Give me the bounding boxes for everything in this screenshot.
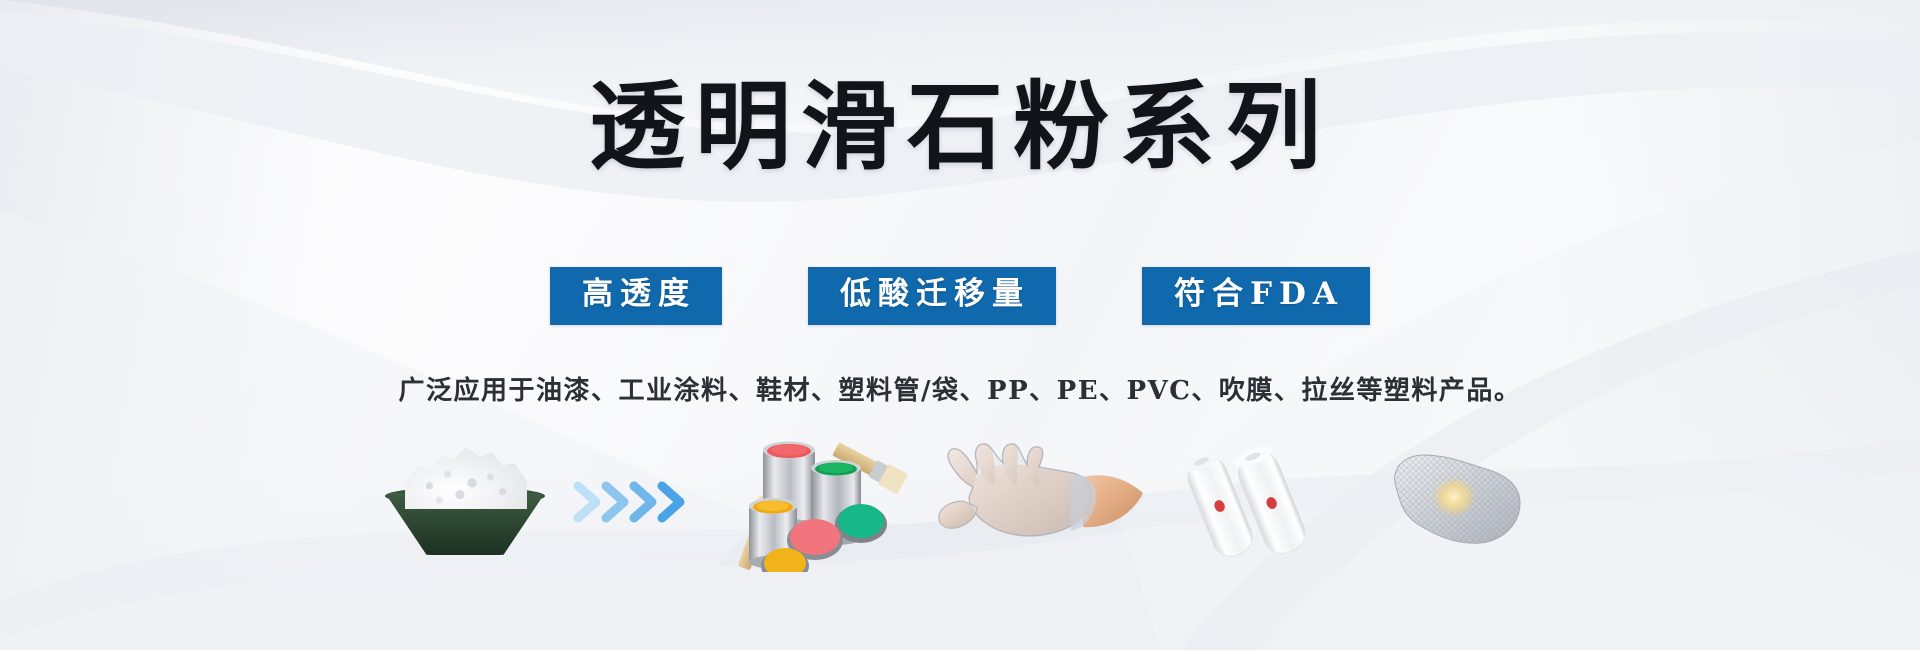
page-subtitle: 广泛应用于油漆、工业涂料、鞋材、塑料管/袋、PP、PE、PVC、吹膜、拉丝等塑料… (0, 370, 1920, 407)
film-rolls-icon (1165, 447, 1350, 557)
glove-thumb-overlay (938, 501, 976, 528)
chevron-right-icon (570, 474, 700, 530)
paint-lid-pink (790, 519, 840, 555)
sole-highlight (1432, 477, 1476, 517)
application-illustration-strip (0, 422, 1920, 582)
process-arrows-illustration (560, 427, 710, 577)
feature-badge-high-transparency[interactable]: 高透度 (550, 267, 722, 325)
feature-badge-fda-compliant[interactable]: 符合FDA (1142, 267, 1370, 325)
plastic-film-rolls-illustration (1155, 427, 1360, 577)
gloved-hand-illustration (925, 427, 1155, 577)
paint-cans-icon (715, 432, 920, 572)
product-banner: 透明滑石粉系列 高透度 低酸迁移量 符合FDA 广泛应用于油漆、工业涂料、鞋材、… (0, 0, 1920, 650)
shoe-sole-icon (1380, 447, 1530, 557)
gloved-hand-icon (933, 443, 1148, 561)
powder-texture (405, 451, 527, 509)
talc-powder-bowl-icon (379, 447, 551, 557)
shoe-sole-illustration (1360, 427, 1550, 577)
feature-badge-group: 高透度 低酸迁移量 符合FDA (0, 267, 1920, 325)
paint-lid-teal (838, 504, 884, 538)
page-title: 透明滑石粉系列 (0, 74, 1920, 180)
feature-badge-low-acid-migration[interactable]: 低酸迁移量 (808, 267, 1056, 325)
paint-cans-illustration (710, 427, 925, 577)
talc-powder-bowl-illustration (370, 427, 560, 577)
